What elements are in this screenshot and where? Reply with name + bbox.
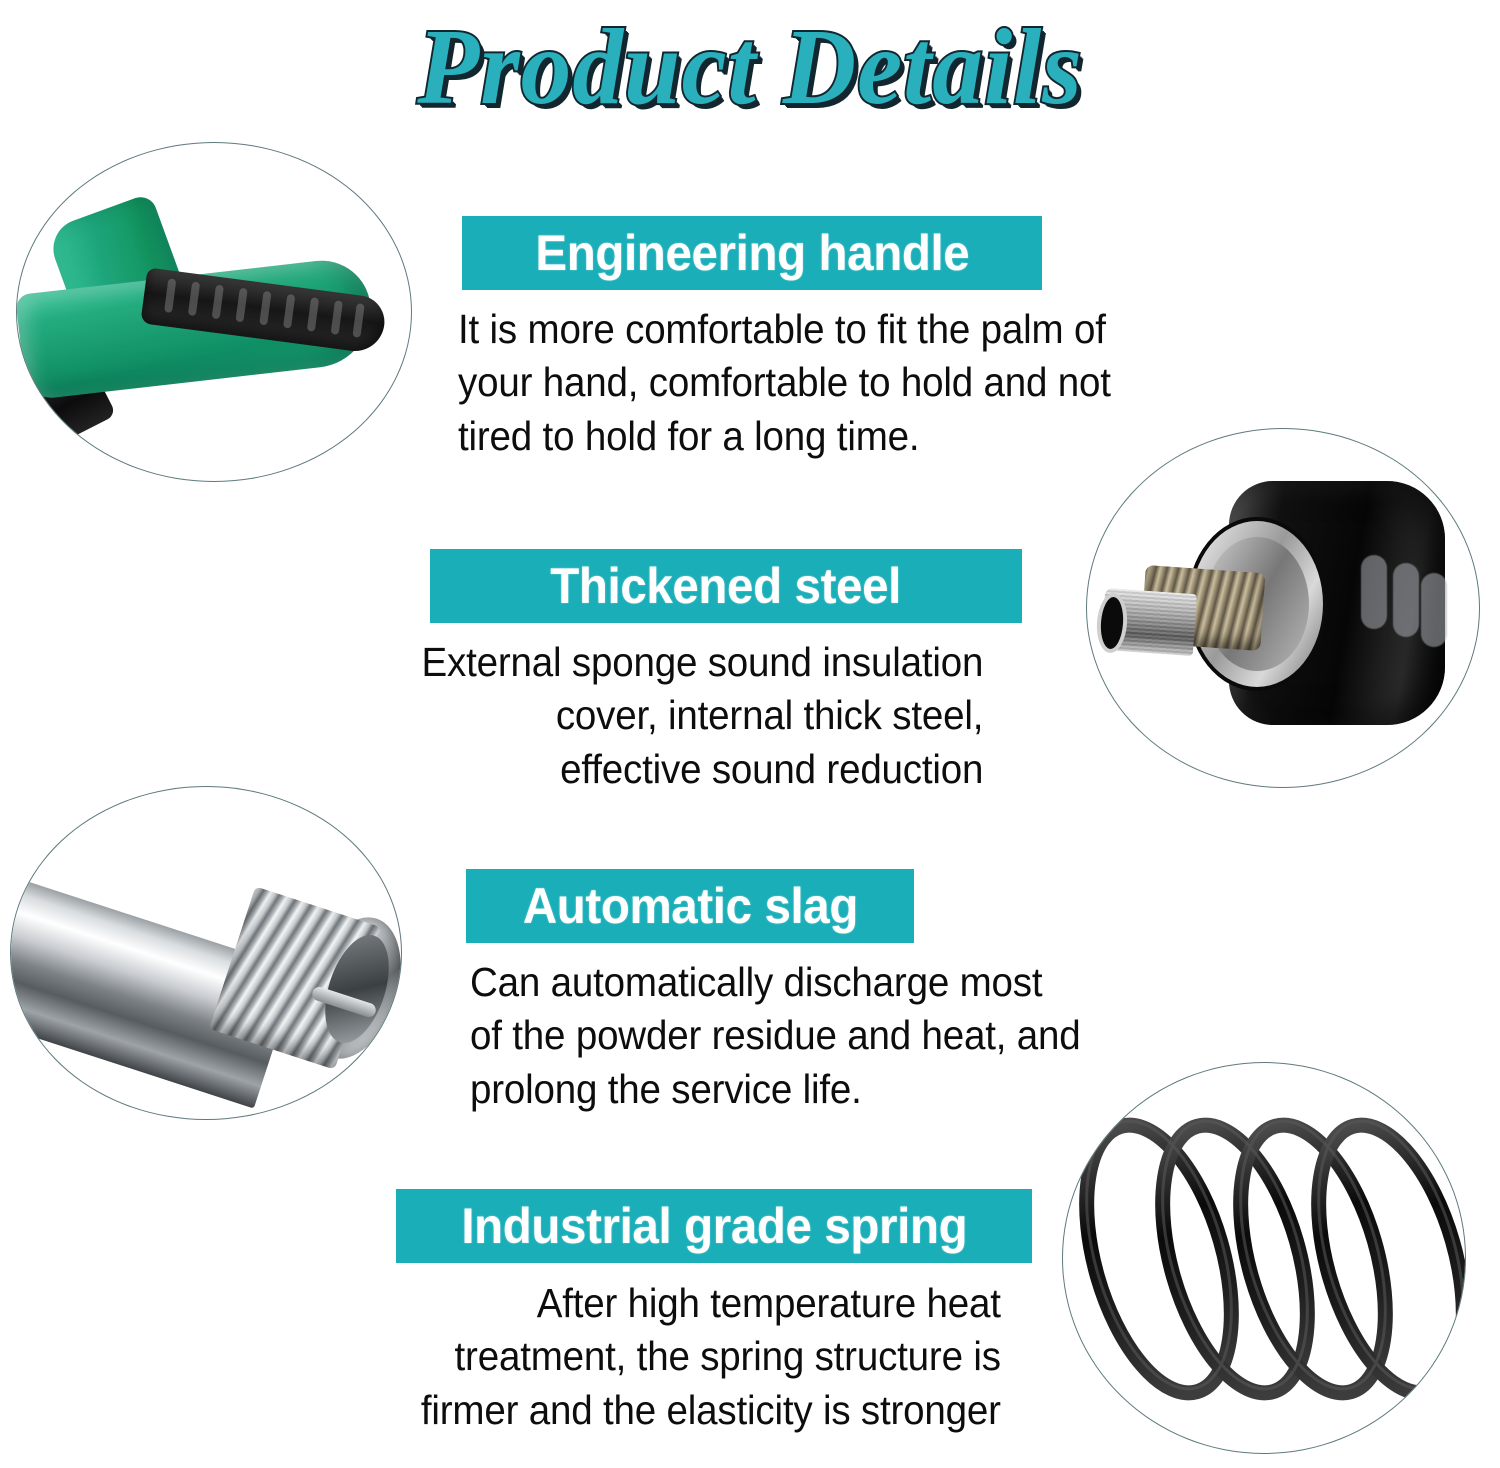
page-title: Product Details [417, 14, 1083, 122]
handle-photo [17, 143, 411, 481]
section-heading-label: Automatic slag [522, 881, 857, 931]
chuck-photo-circle [1086, 428, 1480, 788]
steel-tube-photo-circle [10, 786, 402, 1120]
chuck-photo [1087, 429, 1479, 787]
section-body-automatic-slag: Can automatically discharge most of the … [470, 956, 1081, 1116]
section-body-industrial-grade-spring: After high temperature heat treatment, t… [418, 1277, 1001, 1437]
section-heading-automatic-slag: Automatic slag [466, 869, 914, 943]
spring-photo [1063, 1063, 1465, 1453]
page-title-container: Product Details [0, 8, 1500, 128]
section-body-engineering-handle: It is more comfortable to fit the palm o… [458, 303, 1125, 463]
section-body-thickened-steel: External sponge sound insulation cover, … [408, 636, 983, 796]
product-details-infographic: Product Details [0, 0, 1500, 1468]
steel-tube-photo [11, 787, 401, 1119]
spring-photo-circle [1062, 1062, 1466, 1454]
section-heading-thickened-steel: Thickened steel [430, 549, 1022, 623]
coil-spring-drawing [1063, 1063, 1465, 1453]
section-heading-label: Industrial grade spring [461, 1201, 967, 1251]
section-heading-industrial-grade-spring: Industrial grade spring [396, 1189, 1032, 1263]
section-heading-label: Engineering handle [535, 228, 969, 278]
handle-photo-circle [16, 142, 412, 482]
section-heading-label: Thickened steel [551, 561, 902, 611]
section-heading-engineering-handle: Engineering handle [462, 216, 1042, 290]
